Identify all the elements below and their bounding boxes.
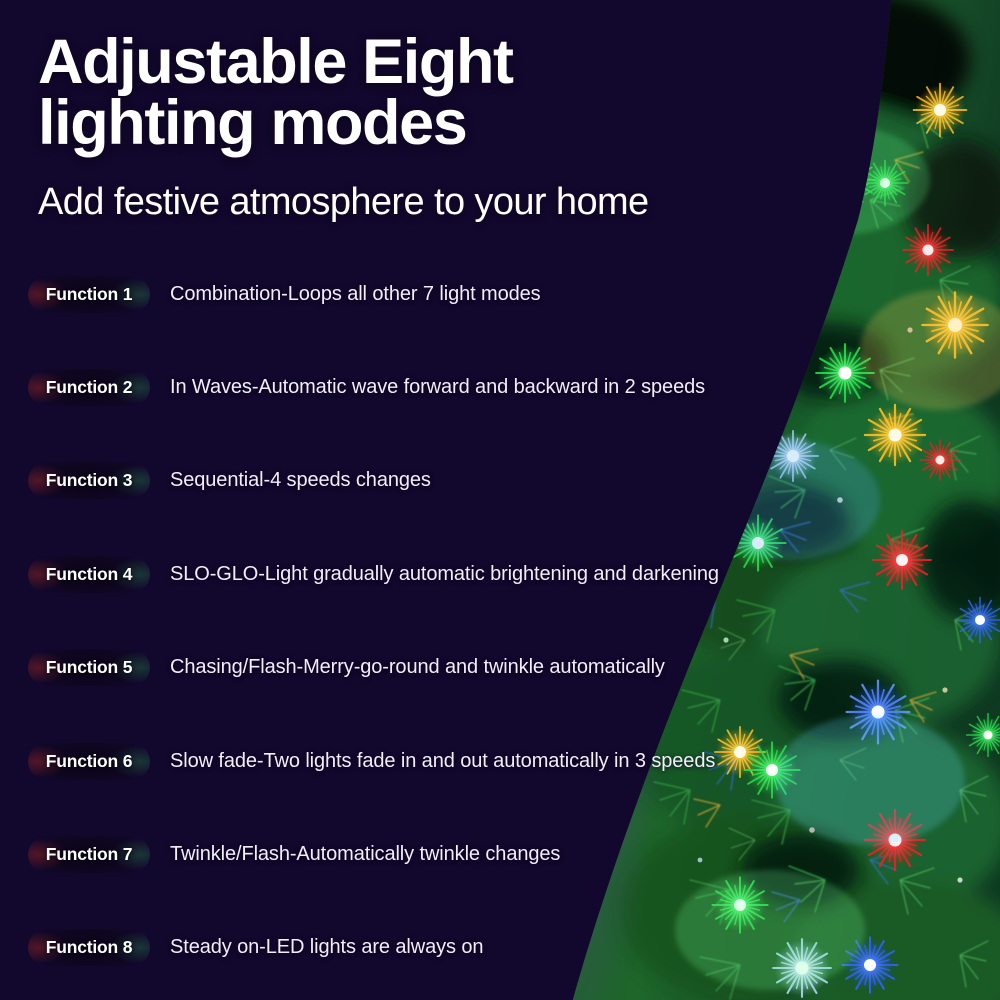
- function-label-2: Function 2: [46, 377, 132, 398]
- promotional-banner: Adjustable Eight lighting modes Add fest…: [0, 0, 1000, 1000]
- function-row-1: Function 1 Combination-Loops all other 7…: [28, 275, 541, 313]
- function-list: Function 1 Combination-Loops all other 7…: [0, 0, 1000, 1000]
- function-badge-5: Function 5: [28, 649, 150, 686]
- function-description-6: Slow fade-Two lights fade in and out aut…: [170, 750, 715, 773]
- function-description-1: Combination-Loops all other 7 light mode…: [170, 283, 541, 306]
- function-row-4: Function 4 SLO-GLO-Light gradually autom…: [28, 555, 719, 593]
- function-badge-2: Function 2: [28, 369, 150, 406]
- function-description-4: SLO-GLO-Light gradually automatic bright…: [170, 563, 719, 586]
- function-badge-1: Function 1: [28, 276, 150, 313]
- function-label-5: Function 5: [46, 657, 132, 678]
- function-description-7: Twinkle/Flash-Automatically twinkle chan…: [170, 843, 560, 866]
- function-description-2: In Waves-Automatic wave forward and back…: [170, 376, 705, 399]
- function-label-3: Function 3: [46, 470, 132, 491]
- function-label-8: Function 8: [46, 937, 132, 958]
- function-row-6: Function 6 Slow fade-Two lights fade in …: [28, 742, 715, 780]
- function-label-7: Function 7: [46, 844, 132, 865]
- function-row-7: Function 7 Twinkle/Flash-Automatically t…: [28, 835, 560, 873]
- function-badge-3: Function 3: [28, 462, 150, 499]
- function-badge-7: Function 7: [28, 836, 150, 873]
- function-badge-4: Function 4: [28, 556, 150, 593]
- function-label-4: Function 4: [46, 564, 132, 585]
- function-description-5: Chasing/Flash-Merry-go-round and twinkle…: [170, 656, 665, 679]
- function-row-2: Function 2 In Waves-Automatic wave forwa…: [28, 368, 705, 406]
- function-row-5: Function 5 Chasing/Flash-Merry-go-round …: [28, 648, 665, 686]
- function-badge-6: Function 6: [28, 743, 150, 780]
- function-description-8: Steady on-LED lights are always on: [170, 936, 483, 959]
- function-badge-8: Function 8: [28, 929, 150, 966]
- function-description-3: Sequential-4 speeds changes: [170, 469, 431, 492]
- function-row-3: Function 3 Sequential-4 speeds changes: [28, 461, 431, 499]
- text-content: Adjustable Eight lighting modes Add fest…: [0, 0, 1000, 1000]
- function-row-8: Function 8 Steady on-LED lights are alwa…: [28, 928, 483, 966]
- function-label-6: Function 6: [46, 751, 132, 772]
- function-label-1: Function 1: [46, 284, 132, 305]
